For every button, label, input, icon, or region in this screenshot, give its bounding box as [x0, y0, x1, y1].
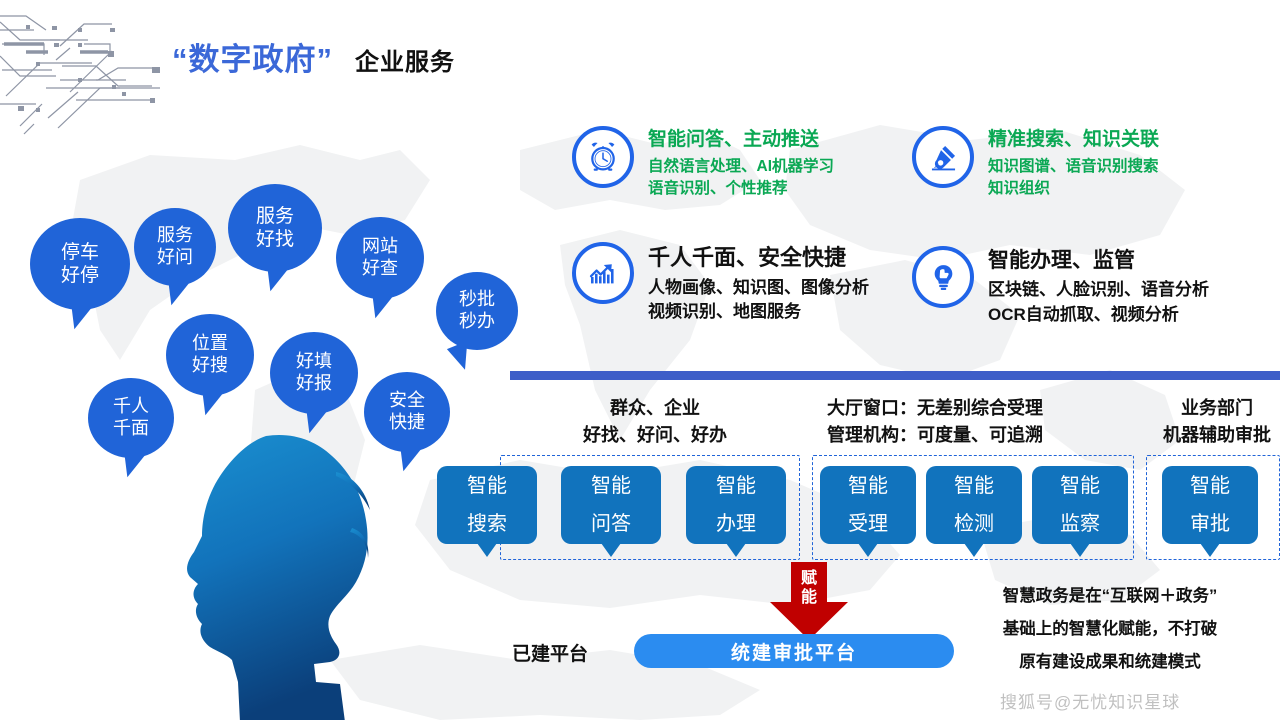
platform-pill-label: 统建审批平台 [731, 638, 857, 665]
card-intelligent-supervise[interactable]: 智能 监察 [1032, 466, 1128, 544]
bubble-parking[interactable]: 停车 好停 [30, 218, 130, 310]
card-intelligent-detect[interactable]: 智能 检测 [926, 466, 1022, 544]
feature-line: 区块链、人脸识别、语音分析 [988, 278, 1209, 303]
bubble-easy-fill[interactable]: 好填 好报 [270, 332, 358, 414]
bubble-tail [447, 341, 477, 373]
feature-block-profile: 千人千面、安全快捷 人物画像、知识图、图像分析 视频识别、地图服务 [572, 242, 869, 325]
card-line1: 智能 [1060, 467, 1100, 505]
feature-block-search: 精准搜索、知识关联 知识图谱、语音识别搜索 知识组织 [912, 126, 1159, 201]
bubble-line1: 服务 [157, 225, 193, 247]
bubble-line2: 好搜 [192, 355, 228, 377]
feature-text: 智能问答、主动推送 自然语言处理、AI机器学习 语音识别、个性推荐 [648, 126, 834, 201]
bubble-line2: 秒办 [459, 311, 495, 333]
note-line: 基础上的智慧化赋能，不打破 [950, 613, 1270, 646]
card-line1: 智能 [1190, 467, 1230, 505]
feature-line: 自然语言处理、AI机器学习 [648, 156, 834, 178]
card-tail [964, 543, 984, 557]
card-intelligent-accept[interactable]: 智能 受理 [820, 466, 916, 544]
feature-heading: 精准搜索、知识关联 [988, 128, 1159, 152]
card-tail [1200, 543, 1220, 557]
lightbulb-icon [912, 246, 974, 308]
card-tail [726, 543, 746, 557]
summary-note: 智慧政务是在“互联网＋政务” 基础上的智慧化赋能，不打破 原有建设成果和统建模式 [950, 580, 1270, 679]
card-line2: 监察 [1060, 505, 1100, 543]
feature-line: 视频识别、地图服务 [648, 300, 869, 325]
section-header-line2: 机器辅助审批 [1142, 422, 1280, 449]
card-line2: 受理 [848, 505, 888, 543]
section-header-line1: 大厅窗口：无差别综合受理 [827, 395, 1043, 422]
title-main: “数字政府” [172, 34, 333, 79]
card-line2: 搜索 [467, 505, 507, 543]
built-platform-label: 已建平台 [512, 639, 588, 666]
page-title: “数字政府” 企业服务 [172, 34, 455, 79]
feature-heading: 千人千面、安全快捷 [648, 244, 869, 272]
bubble-line1: 好填 [296, 351, 332, 373]
section-header-dept: 业务部门 机器辅助审批 [1142, 395, 1280, 449]
feature-line: 语音识别、个性推荐 [648, 178, 834, 200]
bubble-line2: 好问 [157, 247, 193, 269]
bubble-tail [66, 302, 93, 332]
title-sub: 企业服务 [355, 42, 455, 77]
section-header-line1: 群众、企业 [510, 395, 800, 422]
card-tail [477, 543, 497, 557]
bubble-line1: 服务 [256, 205, 294, 228]
card-intelligent-search[interactable]: 智能 搜索 [437, 466, 537, 544]
card-line1: 智能 [591, 467, 631, 505]
feature-text: 千人千面、安全快捷 人物画像、知识图、图像分析 视频识别、地图服务 [648, 242, 869, 325]
section-header-hall: 大厅窗口：无差别综合受理 管理机构：可度量、可追溯 [827, 395, 1043, 449]
bubble-line1: 秒批 [459, 289, 495, 311]
unified-approval-platform-button[interactable]: 统建审批平台 [634, 634, 954, 668]
feature-heading: 智能办理、监管 [988, 248, 1209, 274]
card-line1: 智能 [954, 467, 994, 505]
note-line: 智慧政务是在“互联网＋政务” [950, 580, 1270, 613]
section-header-line2: 好找、好问、好办 [510, 422, 800, 449]
card-tail [1070, 543, 1090, 557]
pen-nib-icon [912, 126, 974, 188]
bubble-instant-approval[interactable]: 秒批 秒办 [436, 272, 518, 350]
feature-line: 人物画像、知识图、图像分析 [648, 276, 869, 301]
bubble-tail [163, 278, 190, 308]
section-header-line1: 业务部门 [1142, 395, 1280, 422]
bubble-line1: 停车 [61, 241, 99, 264]
bubble-line2: 好找 [256, 228, 294, 251]
section-header-public: 群众、企业 好找、好问、好办 [510, 395, 800, 449]
card-line2: 审批 [1190, 505, 1230, 543]
note-line: 原有建设成果和统建模式 [950, 646, 1270, 679]
arrow-label-line1: 赋 [787, 570, 831, 589]
bubble-location-search[interactable]: 位置 好搜 [166, 314, 254, 396]
bubble-line2: 好报 [296, 373, 332, 395]
feature-line: 知识图谱、语音识别搜索 [988, 156, 1159, 178]
card-tail [601, 543, 621, 557]
bubble-line2: 快捷 [389, 412, 425, 434]
growth-chart-icon [572, 242, 634, 304]
slide-canvas: “数字政府” 企业服务 停车 好停 服务 好问 服务 好找 网站 好查 秒批 秒… [0, 0, 1280, 720]
feature-line: 知识组织 [988, 178, 1159, 200]
empower-arrow-label: 赋 能 [787, 570, 831, 608]
card-intelligent-approve[interactable]: 智能 审批 [1162, 466, 1258, 544]
card-line2: 问答 [591, 505, 631, 543]
feature-text: 智能办理、监管 区块链、人脸识别、语音分析 OCR自动抓取、视频分析 [988, 246, 1209, 328]
bubble-tail [261, 264, 288, 294]
card-tail [858, 543, 878, 557]
watermark: 搜狐号@无忧知识星球 [1000, 688, 1180, 713]
card-line2: 办理 [716, 505, 756, 543]
bubble-service-find[interactable]: 服务 好找 [228, 184, 322, 272]
bubble-line1: 位置 [192, 333, 228, 355]
feature-block-qa: 智能问答、主动推送 自然语言处理、AI机器学习 语音识别、个性推荐 [572, 126, 834, 201]
bubble-line1: 网站 [362, 236, 398, 258]
bubble-service-ask[interactable]: 服务 好问 [134, 208, 216, 286]
bubble-tail [367, 291, 394, 321]
card-intelligent-handling[interactable]: 智能 办理 [686, 466, 786, 544]
bubble-line1: 安全 [389, 390, 425, 412]
card-intelligent-qa[interactable]: 智能 问答 [561, 466, 661, 544]
section-divider [510, 371, 1280, 380]
alarm-clock-icon [572, 126, 634, 188]
bubble-website-check[interactable]: 网站 好查 [336, 217, 424, 299]
feature-line: OCR自动抓取、视频分析 [988, 303, 1209, 328]
card-line1: 智能 [848, 467, 888, 505]
bubble-line2: 好查 [362, 258, 398, 280]
feature-heading: 智能问答、主动推送 [648, 128, 834, 152]
feature-block-supervision: 智能办理、监管 区块链、人脸识别、语音分析 OCR自动抓取、视频分析 [912, 246, 1209, 328]
card-line2: 检测 [954, 505, 994, 543]
card-line1: 智能 [467, 467, 507, 505]
bubble-tail [197, 388, 224, 418]
circuit-decoration-icon [0, 0, 175, 145]
arrow-label-line2: 能 [787, 589, 831, 608]
section-header-line2: 管理机构：可度量、可追溯 [827, 422, 1043, 449]
bubble-line1: 千人 [113, 396, 149, 418]
head-silhouette [140, 432, 410, 720]
bubble-line2: 好停 [61, 264, 99, 287]
card-line1: 智能 [716, 467, 756, 505]
feature-text: 精准搜索、知识关联 知识图谱、语音识别搜索 知识组织 [988, 126, 1159, 201]
